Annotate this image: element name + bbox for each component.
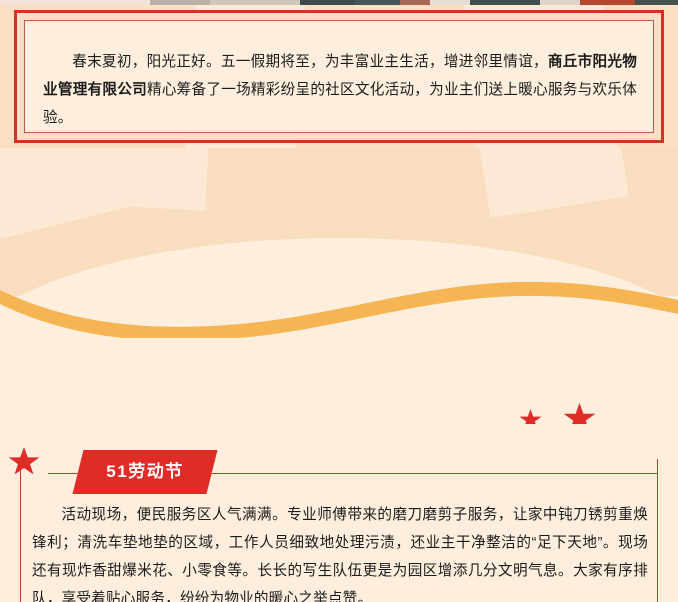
intro-box-outer-border: 春末夏初，阳光正好。五一假期将至，为丰富业主生活，增进邻里情谊，商丘市阳光物业管… bbox=[14, 10, 664, 143]
intro-section: 春末夏初，阳光正好。五一假期将至，为丰富业主生活，增进邻里情谊，商丘市阳光物业管… bbox=[0, 5, 678, 148]
article-body-text: 活动现场，便民服务区人气满满。专业师傅带来的磨刀磨剪子服务，让家中钝刀锈剪重焕锋… bbox=[32, 507, 648, 602]
section-heading: 51劳动节 bbox=[0, 438, 678, 482]
background-shape bbox=[467, 148, 629, 218]
intro-paragraph: 春末夏初，阳光正好。五一假期将至，为丰富业主生活，增进邻里情谊，商丘市阳光物业管… bbox=[43, 48, 637, 132]
heading-rule-right bbox=[212, 473, 658, 474]
intro-box-inner-border: 春末夏初，阳光正好。五一假期将至，为丰富业主生活，增进邻里情谊，商丘市阳光物业管… bbox=[24, 20, 654, 133]
background-shape bbox=[95, 148, 214, 211]
intro-text-prefix: 春末夏初，阳光正好。五一假期将至，为丰富业主生活，增进邻里情谊， bbox=[72, 54, 548, 70]
poster-page: 春末夏初，阳光正好。五一假期将至，为丰富业主生活，增进邻里情谊，商丘市阳光物业管… bbox=[0, 0, 678, 602]
star-icon bbox=[8, 447, 40, 477]
decorative-band bbox=[0, 148, 678, 424]
section-banner-label: 51劳动节 bbox=[78, 450, 212, 494]
article-section: 51劳动节 活动现场，便民服务区人气满满。专业师傅带来的磨刀磨剪子服务，让家中钝… bbox=[0, 424, 678, 602]
orange-wave-icon bbox=[0, 278, 678, 338]
article-paragraph: 活动现场，便民服务区人气满满。专业师傅带来的磨刀磨剪子服务，让家中钝刀锈剪重焕锋… bbox=[32, 501, 648, 602]
